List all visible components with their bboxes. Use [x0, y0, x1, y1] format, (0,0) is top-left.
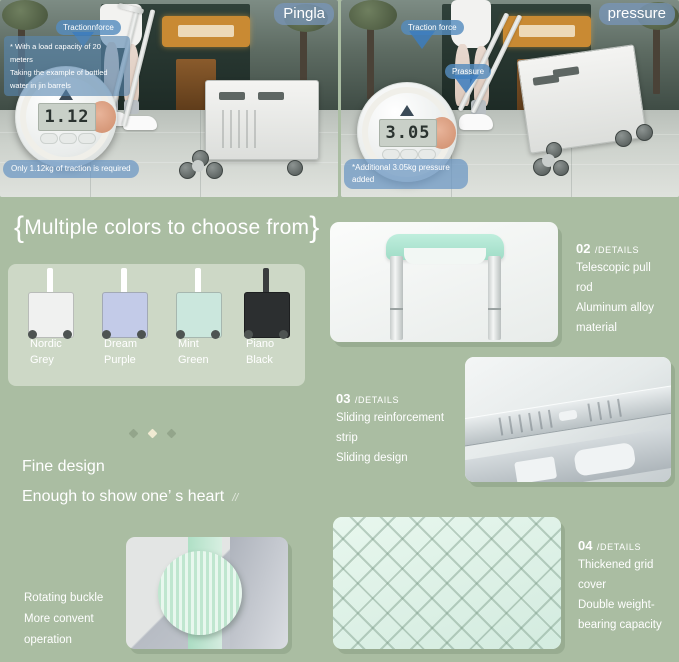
pressure-caption-line-1: *Additional 3.05kg pressure: [352, 162, 460, 174]
handle-inner-cutout: [404, 248, 486, 264]
swatch-label-line1: Nordic: [30, 336, 88, 352]
mini-pull-rod: [195, 268, 201, 294]
detail-card-sliding-strip[interactable]: [465, 357, 671, 482]
aluminum-rod-right: [488, 256, 501, 340]
color-swatch-panel: Nordic Grey Dream Purple Mint Green: [8, 264, 305, 386]
detail-line: Rotating buckle: [24, 588, 129, 609]
detail-line: material: [576, 318, 676, 338]
colors-heading: {Multiple colors to choose from}: [0, 211, 319, 245]
detail-line: Telescopic pull: [576, 258, 676, 278]
brand-badge-left: Pingla: [274, 3, 334, 25]
thickened-grid-pattern: [333, 517, 561, 649]
caster-wheel: [615, 130, 632, 147]
detail-text-05: Rotating buckle More convent operation: [24, 588, 129, 651]
photo-comparison-row: 1.12 Tractionnforce * With a load capaci…: [0, 0, 679, 197]
detail-line: strip: [336, 428, 466, 448]
mini-pull-rod: [263, 268, 269, 294]
detail-text-03: 03 /DETAILS Sliding reinforcement strip …: [336, 390, 466, 468]
brand-badge-right: pressure: [599, 3, 675, 25]
product-detail-page: 1.12 Tractionnforce * With a load capaci…: [0, 0, 679, 662]
detail-label-02: /DETAILS: [595, 245, 639, 255]
detail-card-grid-cover[interactable]: [333, 517, 561, 649]
swatch-label: Nordic Grey: [14, 336, 88, 368]
detail-line: rod: [576, 278, 676, 298]
tree-canopy: [349, 0, 397, 30]
mini-pull-rod: [47, 268, 53, 294]
gauge-reading-right: 3.05: [386, 123, 431, 143]
store-sign: [162, 16, 250, 48]
pressure-caption: *Additional 3.05kg pressure added: [344, 159, 468, 189]
detail-text-04: 04 /DETAILS Thickened grid cover Double …: [578, 537, 676, 635]
swatch-nordic-grey[interactable]: Nordic Grey: [14, 264, 88, 386]
swatch-mint-green[interactable]: Mint Green: [162, 264, 236, 386]
detail-line: Aluminum alloy: [576, 298, 676, 318]
tree-canopy: [2, 0, 48, 30]
swatch-label: Piano Black: [230, 336, 304, 368]
pagination-dot[interactable]: [129, 429, 139, 439]
brace-open: {: [14, 211, 24, 244]
arrow-down-icon: [409, 31, 435, 49]
stair-climbing-wheel: [206, 162, 223, 179]
detail-line: Sliding reinforcement: [336, 408, 466, 428]
swatch-dream-purple[interactable]: Dream Purple: [88, 264, 162, 386]
gauge-reading-left: 1.12: [45, 107, 90, 127]
tagline-line-1: Fine design: [22, 452, 312, 482]
traction-caption: Only 1.12kg of traction is required: [3, 160, 139, 178]
detail-line: Sliding design: [336, 448, 466, 468]
pagination-dot[interactable]: [167, 429, 177, 439]
tagline-line-2-text: Enough to show one’ s heart: [22, 488, 224, 505]
note-line-1: * With a load capacity of 20 meters: [10, 40, 124, 66]
swatch-label-line2: Purple: [104, 352, 162, 368]
swatch-label-line1: Piano: [246, 336, 304, 352]
photo-pressure[interactable]: 3.05 Traction force Prassure *Additional…: [341, 0, 679, 197]
tagline-decoration: //: [232, 492, 238, 504]
detail-line: More convent: [24, 609, 129, 630]
brace-close: }: [309, 211, 319, 244]
caster-wheel: [287, 160, 303, 176]
pagination-dot-active[interactable]: [148, 429, 158, 439]
mini-pull-rod: [121, 268, 127, 294]
carousel-pagination[interactable]: [130, 430, 190, 437]
swatch-label-line1: Dream: [104, 336, 162, 352]
pressure-caption-line-2: added: [352, 174, 460, 186]
swatch-label-line2: Grey: [30, 352, 88, 368]
rotating-buckle-knob: [158, 551, 242, 635]
detail-line: Thickened grid: [578, 555, 676, 575]
aluminum-rod-left: [390, 256, 403, 340]
note-line-3: water in jin barrels: [10, 79, 124, 92]
detail-label-03: /DETAILS: [355, 395, 399, 405]
swatch-piano-black[interactable]: Piano Black: [230, 264, 304, 386]
stair-climbing-wheel: [553, 160, 569, 176]
detail-text-02: 02 /DETAILS Telescopic pull rod Aluminum…: [576, 240, 676, 338]
detail-line: cover: [578, 575, 676, 595]
swatch-label: Dream Purple: [88, 336, 162, 368]
detail-number-04: 04: [578, 538, 592, 553]
photo-traction[interactable]: 1.12 Tractionnforce * With a load capaci…: [0, 0, 338, 197]
swatch-label-line2: Green: [178, 352, 236, 368]
caster-wheel: [636, 124, 653, 141]
detail-line: Double weight-: [578, 595, 676, 615]
detail-line: bearing capacity: [578, 615, 676, 635]
swatch-label-line1: Mint: [178, 336, 236, 352]
note-line-2: Taking the example of bottled: [10, 66, 124, 79]
swatch-label-line2: Black: [246, 352, 304, 368]
detail-line: operation: [24, 630, 129, 651]
detail-number-02: 02: [576, 241, 590, 256]
detail-label-04: /DETAILS: [597, 542, 641, 552]
arrow-down-icon: [453, 75, 479, 93]
tagline-line-2: Enough to show one’ s heart//: [22, 482, 312, 513]
colors-heading-text: Multiple colors to choose from: [24, 216, 309, 239]
detail-number-03: 03: [336, 391, 350, 406]
detail-card-rotating-buckle[interactable]: [126, 537, 288, 649]
swatch-label: Mint Green: [162, 336, 236, 368]
tagline-block: Fine design Enough to show one’ s heart/…: [22, 452, 312, 513]
detail-card-telescopic-rod[interactable]: [330, 222, 558, 342]
load-capacity-note: * With a load capacity of 20 meters Taki…: [4, 36, 130, 96]
